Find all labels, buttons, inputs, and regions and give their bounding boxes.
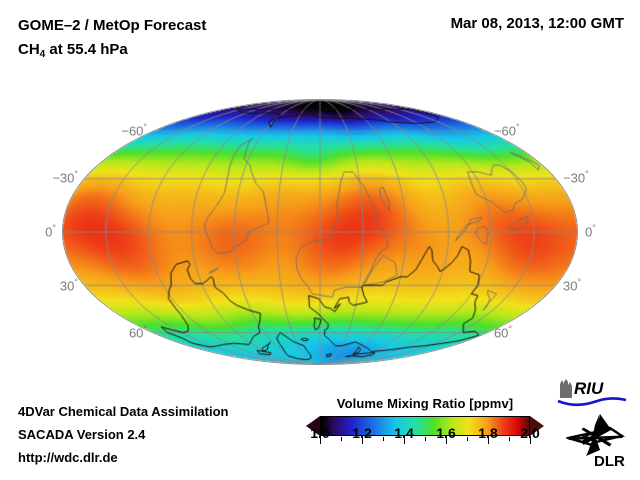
title-line-1: GOME–2 / MetOp Forecast [18,15,206,37]
dlr-logo: DLR [566,412,628,470]
lat-label-minus60: −60° [494,122,520,138]
lat-label-0: 0° [585,223,596,239]
colorbar-tick-label: 1.8 [478,425,497,441]
lat-label-60: 60° [494,324,512,340]
colorbar-tick-labels: 1.01.21.41.61.82.0 [306,425,544,443]
riu-wave-icon [558,398,626,404]
colorbar-tick-label: 1.6 [436,425,455,441]
colorbar-tick-label: 2.0 [520,425,539,441]
riu-logo-graphic: RIU [556,377,628,407]
species-subscript: 4 [40,49,46,60]
dlr-logo-graphic: DLR [566,412,628,470]
colorbar-tick-label: 1.0 [310,425,329,441]
riu-wordmark: RIU [574,379,604,398]
lat-label-minus30: −30° [0,169,78,185]
species-label: CH [18,41,40,58]
riu-tower-icon [560,379,572,398]
map-panel: 60°60°30°30°0°0°−30°−30°−60°−60° [0,82,640,382]
product-info-line-1: 4DVar Chemical Data Assimilation [18,400,229,423]
lat-label-0: 0° [0,223,56,239]
colorbar: Volume Mixing Ratio [ppmv] 1.01.21.41.61… [306,396,544,438]
colorbar-tick-label: 1.4 [394,425,413,441]
lat-label-minus60: −60° [0,122,147,138]
lat-label-30: 30° [563,277,581,293]
colorbar-tick-label: 1.2 [352,425,371,441]
forecast-datetime: Mar 08, 2013, 12:00 GMT [451,15,624,32]
dlr-star-icon [568,414,623,456]
product-info-url: http://wdc.dlr.de [18,446,229,469]
colorbar-title: Volume Mixing Ratio [ppmv] [306,396,544,411]
lat-label-30: 30° [0,277,78,293]
title-line-2: CH4 at 55.4 hPa [18,39,206,63]
dlr-wordmark: DLR [594,453,625,470]
gome2-metop-ch4-forecast-map: GOME–2 / MetOp Forecast CH4 at 55.4 hPa … [0,0,640,480]
lat-label-60: 60° [0,324,147,340]
lat-label-minus30: −30° [563,169,589,185]
product-info-line-2: SACADA Version 2.4 [18,423,229,446]
page-title: GOME–2 / MetOp Forecast CH4 at 55.4 hPa [18,15,206,63]
riu-logo: RIU [556,377,628,407]
pressure-level-label: at 55.4 hPa [45,41,128,58]
product-info: 4DVar Chemical Data Assimilation SACADA … [18,400,229,469]
